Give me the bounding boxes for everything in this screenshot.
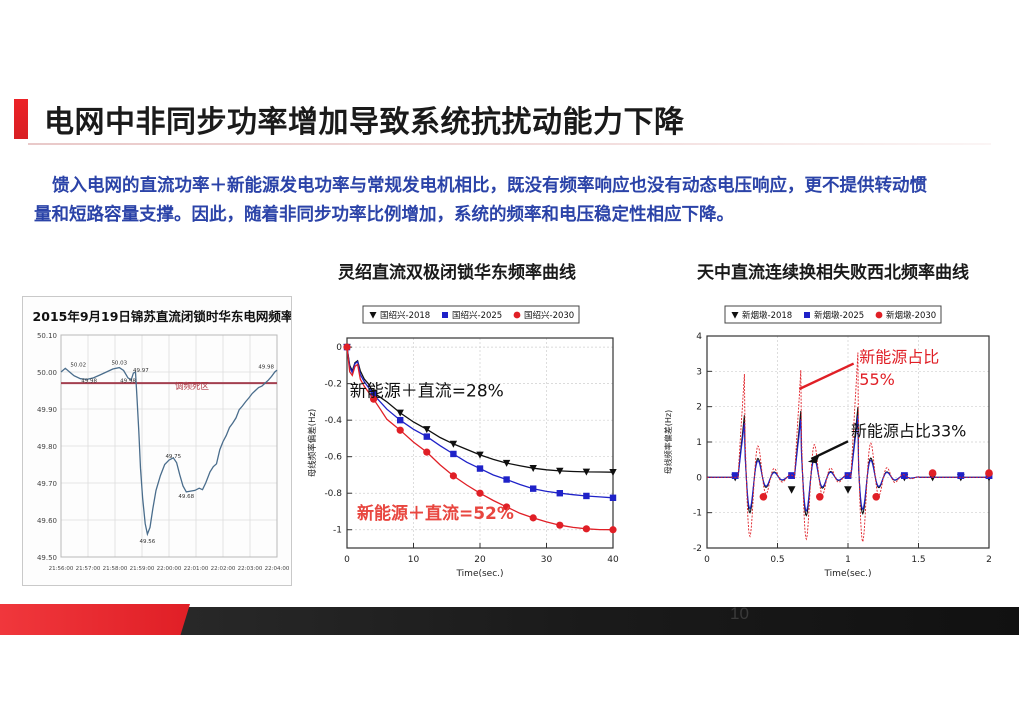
x-tick-label: 22:03:00 [238, 566, 263, 572]
y-tick-label: 49.90 [37, 406, 57, 414]
x-tick-label: 22:02:00 [211, 566, 236, 572]
data-point-marker [876, 312, 883, 319]
left-chart-title: 2015年9月19日锦苏直流闭锁时华东电网频率 [33, 309, 291, 324]
x-tick-label: 1 [845, 555, 851, 565]
y-tick-label: 0 [696, 473, 702, 483]
data-point-marker [557, 490, 563, 496]
legend-label: 新烟墩-2025 [814, 310, 864, 321]
x-tick-label: 0 [704, 555, 710, 565]
middle-chart-x-axis-label: Time(sec.) [455, 569, 503, 579]
data-point-marker [845, 472, 852, 479]
chart-annotation: 49.75 [165, 454, 181, 460]
caption-middle-chart: 灵绍直流双极闭锁华东频率曲线 [338, 258, 576, 283]
x-tick-label: 1.5 [911, 555, 925, 565]
y-tick-label: 49.50 [37, 554, 57, 562]
y-tick-label: 49.60 [37, 517, 57, 525]
data-point-marker [957, 472, 964, 479]
chart-annotation: 49.68 [178, 494, 194, 500]
data-point-marker [424, 433, 430, 439]
y-tick-label: 4 [696, 332, 702, 342]
data-point-marker [530, 485, 536, 491]
chart-annotation: 新能源＋直流=28% [350, 381, 504, 401]
body-paragraph: 馈入电网的直流功率＋新能源发电功率与常规发电机相比，既没有频率响应也没有动态电压… [34, 172, 986, 230]
y-tick-label: -2 [693, 544, 702, 554]
chart-annotation: 49.56 [140, 539, 156, 545]
x-tick-label: 22:01:00 [184, 566, 209, 572]
right-chart-svg: 新烟墩-2018新烟墩-2025新烟墩-2030 43210-1-2 00.51… [657, 300, 1005, 585]
middle-chart-y-axis-label: 母线频率偏差(Hz) [307, 409, 318, 478]
page-number: 10 [730, 604, 749, 624]
data-point-marker [450, 472, 457, 479]
y-tick-label: 50.10 [37, 332, 57, 340]
data-point-marker [583, 525, 590, 532]
left-chart-svg: 2015年9月19日锦苏直流闭锁时华东电网频率 50.1050.0049.904… [23, 297, 291, 585]
y-tick-label: 3 [696, 367, 702, 377]
x-tick-label: 21:57:00 [76, 566, 101, 572]
title-row: 电网中非同步功率增加导致系统抗扰动能力下降 [0, 96, 1019, 142]
x-tick-label: 21:58:00 [103, 566, 128, 572]
body-line-1: 馈入电网的直流功率＋新能源发电功率与常规发电机相比，既没有频率响应也没有动态电压… [34, 172, 986, 201]
legend-label: 国绍兴-2030 [524, 310, 574, 321]
y-tick-label: 49.80 [37, 443, 57, 451]
right-chart-legend: 新烟墩-2018新烟墩-2025新烟墩-2030 [732, 310, 937, 321]
chart-annotation: 49.98 [120, 378, 136, 384]
data-point-marker [804, 312, 810, 318]
page-title: 电网中非同步功率增加导致系统抗扰动能力下降 [44, 97, 685, 141]
y-tick-label: -0.8 [324, 489, 342, 499]
legend-label: 新烟墩-2018 [742, 310, 792, 321]
chart-annotation: 49.98 [258, 364, 274, 370]
data-point-marker [556, 522, 563, 529]
x-tick-label: 0 [344, 555, 350, 565]
left-chart-figure: 2015年9月19日锦苏直流闭锁时华东电网频率 50.1050.0049.904… [22, 296, 292, 586]
y-tick-label: 0 [336, 343, 342, 353]
chart-annotation: 新能源＋直流=52% [357, 503, 514, 524]
data-point-marker [503, 476, 509, 482]
data-point-marker [901, 472, 908, 479]
x-tick-label: 2 [986, 555, 992, 565]
y-tick-label: -1 [693, 509, 702, 519]
x-tick-label: 22:00:00 [157, 566, 182, 572]
caption-right-chart: 天中直流连续换相失败西北频率曲线 [697, 258, 969, 283]
title-underline [28, 143, 991, 145]
left-chart-deadband-label: 调频死区 [175, 381, 210, 392]
data-point-marker [514, 312, 521, 319]
right-chart-y-axis-label: 母线频率偏差(Hz) [663, 410, 673, 474]
x-tick-label: 30 [541, 555, 553, 565]
y-tick-label: -1 [333, 526, 342, 536]
body-line-2: 量和短路容量支撑。因此，随着非同步功率比例增加，系统的频率和电压稳定性相应下降。 [34, 201, 986, 230]
data-point-marker [397, 427, 404, 434]
y-tick-label: 2 [696, 403, 702, 413]
slide-root: 电网中非同步功率增加导致系统抗扰动能力下降 馈入电网的直流功率＋新能源发电功率与… [0, 0, 1019, 707]
chart-annotation: 49.98 [81, 378, 97, 384]
middle-chart-svg: 国绍兴-2018国绍兴-2025国绍兴-2030 0-0.2-0.4-0.6-0… [301, 300, 631, 585]
chart-annotation: 55% [859, 370, 895, 389]
data-point-marker [397, 417, 403, 423]
footer-black-bar [95, 607, 1019, 635]
data-point-marker [450, 451, 456, 457]
x-tick-label: 10 [408, 555, 420, 565]
data-point-marker [423, 449, 430, 456]
data-point-marker [442, 312, 448, 318]
footer-red-bar [0, 604, 190, 635]
chart-annotation: 50.02 [70, 362, 86, 368]
x-tick-label: 21:59:00 [130, 566, 155, 572]
left-chart-x-tick-labels: 21:56:0021:57:0021:58:0021:59:0022:00:00… [49, 566, 290, 572]
chart-annotation: 49.97 [133, 368, 149, 374]
y-tick-label: 49.70 [37, 480, 57, 488]
data-point-marker [583, 493, 589, 499]
y-tick-label: -0.4 [324, 416, 342, 426]
data-point-marker [610, 495, 616, 501]
title-accent-bar [14, 99, 28, 139]
right-chart-x-axis-label: Time(sec.) [823, 569, 871, 579]
y-tick-label: 50.00 [37, 369, 57, 377]
data-point-marker [872, 493, 880, 501]
legend-label: 新烟墩-2030 [886, 310, 936, 321]
x-tick-label: 22:04:00 [265, 566, 290, 572]
data-point-marker [530, 514, 537, 521]
x-tick-label: 21:56:00 [49, 566, 74, 572]
y-tick-label: -0.6 [324, 453, 342, 463]
chart-annotation: 新能源占比33% [851, 422, 967, 441]
data-point-marker [732, 472, 739, 479]
data-point-marker [343, 344, 350, 351]
middle-chart-figure: 国绍兴-2018国绍兴-2025国绍兴-2030 0-0.2-0.4-0.6-0… [301, 300, 631, 585]
middle-chart-legend: 国绍兴-2018国绍兴-2025国绍兴-2030 [370, 310, 575, 321]
data-point-marker [985, 469, 993, 477]
x-tick-label: 40 [607, 555, 619, 565]
legend-label: 国绍兴-2025 [452, 310, 502, 321]
chart-annotation: 50.03 [111, 361, 127, 367]
data-point-marker [816, 493, 824, 501]
data-point-marker [476, 490, 483, 497]
right-chart-figure: 新烟墩-2018新烟墩-2025新烟墩-2030 43210-1-2 00.51… [657, 300, 1005, 585]
legend-label: 国绍兴-2018 [380, 310, 430, 321]
x-tick-label: 0.5 [770, 555, 784, 565]
x-tick-label: 20 [474, 555, 486, 565]
data-point-marker [760, 493, 768, 501]
y-tick-label: -0.2 [324, 380, 342, 390]
data-point-marker [477, 465, 483, 471]
y-tick-label: 1 [696, 438, 702, 448]
chart-annotation: 新能源占比 [859, 348, 939, 367]
data-point-marker [609, 526, 616, 533]
data-point-marker [929, 469, 937, 477]
